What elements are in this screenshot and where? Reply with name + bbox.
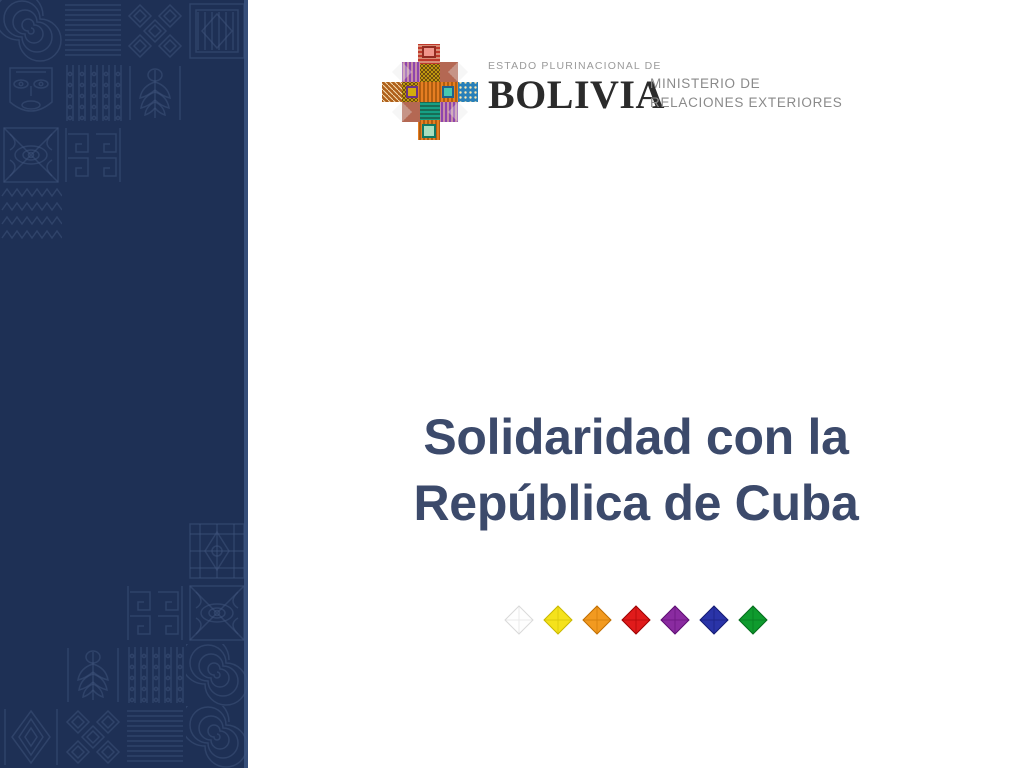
motif-diamond-lozenge [0, 706, 62, 768]
slide-title-line-1: Solidaridad con la [248, 404, 1024, 470]
motif-hstripes [124, 706, 186, 768]
sidebar-edge-stripe [244, 0, 248, 768]
ministry-name: MINISTERIO DE RELACIONES EXTERIORES [650, 75, 843, 112]
diamond-orange [582, 605, 612, 635]
ministry-line-1: MINISTERIO DE [650, 75, 843, 94]
motif-face [0, 62, 62, 124]
diamond-red [621, 605, 651, 635]
diamond-blue [699, 605, 729, 635]
motif-vstripes [62, 62, 124, 124]
bolivia-wordmark: ESTADO PLURINACIONAL DE BOLIVIA [488, 61, 643, 115]
wordmark-eyebrow: ESTADO PLURINACIONAL DE [488, 61, 643, 72]
motif-eye-cross [0, 124, 62, 186]
decorative-sidebar [0, 0, 248, 768]
motif-hstripes [62, 0, 124, 62]
diamond-green [738, 605, 768, 635]
motif-spiral [0, 0, 62, 62]
presentation-slide: ESTADO PLURINACIONAL DE BOLIVIA MINISTER… [0, 0, 1024, 768]
slide-title: Solidaridad con la República de Cuba [248, 404, 1024, 536]
institutional-logo: ESTADO PLURINACIONAL DE BOLIVIA MINISTER… [378, 40, 848, 145]
motif-border-weave [186, 0, 248, 62]
diamond-decoration-row [248, 600, 1024, 640]
bolivia-chakana-emblem [378, 40, 482, 144]
motif-eye-cross [186, 582, 248, 644]
diamond-white [504, 605, 534, 635]
motif-diamond-grid [124, 0, 186, 62]
slide-title-line-2: República de Cuba [248, 470, 1024, 536]
motif-weave [186, 520, 248, 582]
motif-diamond-grid [62, 706, 124, 768]
motif-spiral [186, 706, 248, 768]
motif-spiral [186, 644, 248, 706]
motif-meander [124, 582, 186, 644]
motif-zigzag [0, 186, 62, 248]
wordmark-country-name: BOLIVIA [488, 75, 643, 116]
motif-plant [62, 644, 124, 706]
diamond-purple [660, 605, 690, 635]
motif-vstripes [124, 644, 186, 706]
motif-meander [62, 124, 124, 186]
motif-plant [124, 62, 186, 124]
diamond-yellow [543, 605, 573, 635]
ministry-line-2: RELACIONES EXTERIORES [650, 94, 843, 113]
